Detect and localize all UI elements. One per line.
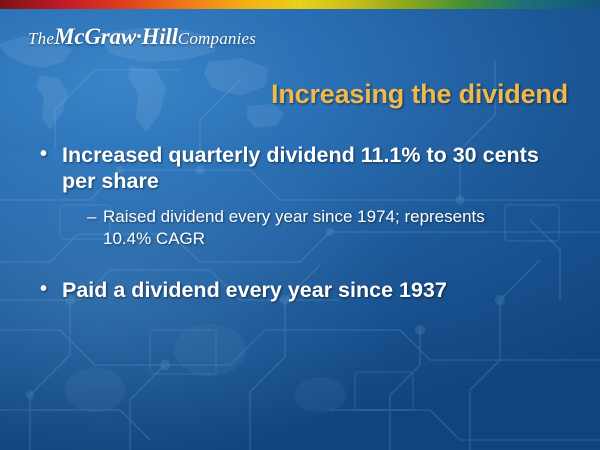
sub-bullet-marker: – [87, 206, 103, 227]
bullet-item: • Increased quarterly dividend 11.1% to … [40, 142, 568, 194]
logo-brand-text: McGraw·Hill [54, 24, 178, 49]
logo-the-text: The [28, 29, 54, 48]
bullet-spacer [40, 249, 568, 277]
bullet-text: Paid a dividend every year since 1937 [62, 277, 568, 303]
bullet-text: Increased quarterly dividend 11.1% to 30… [62, 142, 568, 194]
bullet-item: • Paid a dividend every year since 1937 [40, 277, 568, 303]
sub-bullet-item: – Raised dividend every year since 1974;… [87, 206, 487, 249]
sub-bullet-text: Raised dividend every year since 1974; r… [103, 206, 487, 249]
bullet-marker: • [40, 142, 62, 166]
logo-companies-text: Companies [178, 29, 256, 48]
mcgraw-hill-logo: TheMcGraw·HillCompanies [28, 24, 256, 50]
bullet-marker: • [40, 277, 62, 301]
slide-title: Increasing the dividend [271, 79, 568, 110]
top-color-bar [0, 0, 600, 9]
presentation-slide: TheMcGraw·HillCompanies Increasing the d… [0, 0, 600, 450]
slide-body: • Increased quarterly dividend 11.1% to … [40, 142, 568, 309]
